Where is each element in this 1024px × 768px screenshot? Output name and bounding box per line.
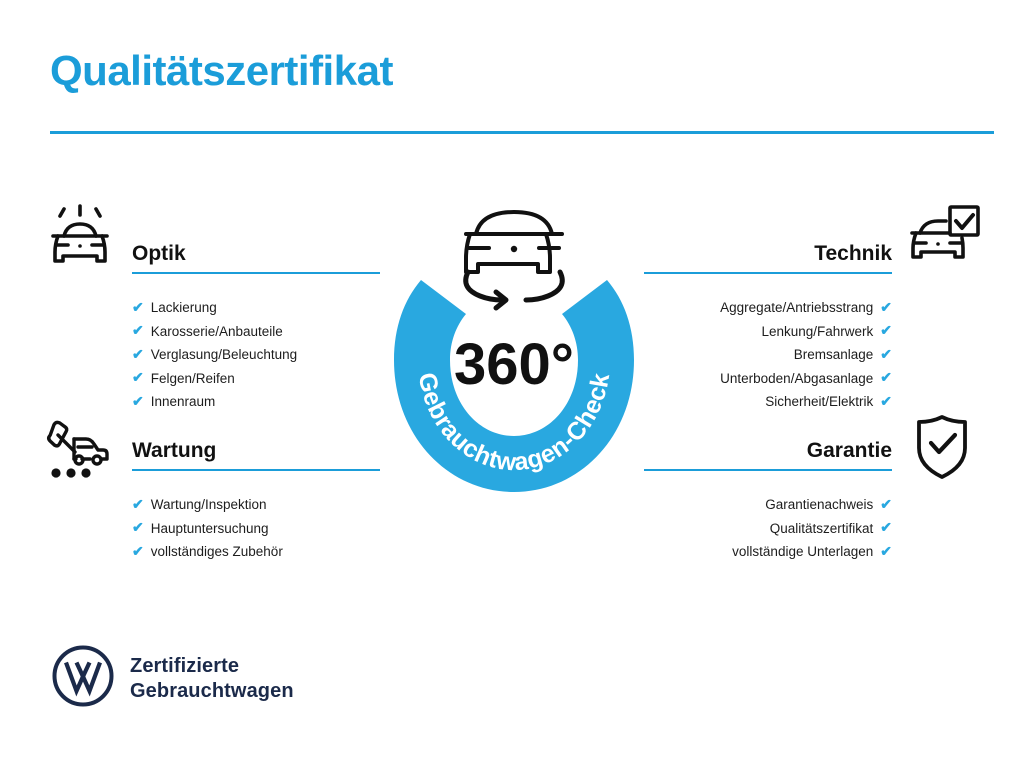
- check-icon: ✔: [880, 520, 892, 534]
- check-icon: ✔: [880, 394, 892, 408]
- wrench-car-icon: [44, 413, 116, 484]
- list-item: Aggregate/Antriebsstrang ✔: [644, 296, 892, 320]
- section-header: Garantie: [644, 437, 892, 479]
- list-item: Qualitätszertifikat ✔: [644, 517, 892, 541]
- check-icon: ✔: [880, 497, 892, 511]
- section-optik: Optik ✔ Lackierung ✔ Karosserie/Anbautei…: [132, 240, 380, 414]
- list-item: ✔ Verglasung/Beleuchtung: [132, 343, 380, 367]
- section-divider: [644, 272, 892, 274]
- list-item-label: Qualitätszertifikat: [770, 517, 874, 541]
- car-checkbox-icon: [906, 203, 982, 280]
- checklist: ✔ Lackierung ✔ Karosserie/Anbauteile ✔ V…: [132, 296, 380, 414]
- footer-line-1: Zertifizierte: [130, 654, 294, 679]
- list-item: Lenkung/Fahrwerk ✔: [644, 320, 892, 344]
- section-title: Garantie: [644, 437, 892, 465]
- check-icon: ✔: [132, 394, 144, 408]
- check-icon: ✔: [880, 300, 892, 314]
- section-header: Technik: [644, 240, 892, 282]
- checklist: ✔ Wartung/Inspektion ✔ Hauptuntersuchung…: [132, 493, 380, 564]
- section-divider: [644, 469, 892, 471]
- list-item-label: Hauptuntersuchung: [151, 517, 269, 541]
- list-item: ✔ Innenraum: [132, 390, 380, 414]
- footer-brand: Zertifizierte Gebrauchtwagen: [52, 645, 294, 712]
- check-icon: ✔: [132, 370, 144, 384]
- list-item-label: Garantienachweis: [765, 493, 873, 517]
- list-item-label: Lenkung/Fahrwerk: [761, 320, 873, 344]
- check-icon: ✔: [132, 323, 144, 337]
- footer-text: Zertifizierte Gebrauchtwagen: [130, 654, 294, 704]
- list-item-label: Lackierung: [151, 296, 217, 320]
- checklist: Garantienachweis ✔ Qualitätszertifikat ✔…: [644, 493, 892, 564]
- list-item-label: Wartung/Inspektion: [151, 493, 267, 517]
- list-item: Sicherheit/Elektrik ✔: [644, 390, 892, 414]
- check-icon: ✔: [880, 347, 892, 361]
- check-icon: ✔: [880, 370, 892, 384]
- list-item: Unterboden/Abgasanlage ✔: [644, 367, 892, 391]
- section-header: Optik: [132, 240, 380, 282]
- section-header: Wartung: [132, 437, 380, 479]
- list-item: ✔ Wartung/Inspektion: [132, 493, 380, 517]
- list-item-label: vollständige Unterlagen: [732, 540, 873, 564]
- car-shine-icon: [44, 203, 116, 280]
- check-icon: ✔: [132, 544, 144, 558]
- vw-logo: [52, 645, 114, 712]
- check-icon: ✔: [132, 520, 144, 534]
- section-title: Wartung: [132, 437, 380, 465]
- checklist: Aggregate/Antriebsstrang ✔ Lenkung/Fahrw…: [644, 296, 892, 414]
- section-garantie: Garantie Garantienachweis ✔ Qualitätszer…: [644, 437, 892, 564]
- title-divider: [50, 131, 994, 134]
- badge-center-text: 360°: [454, 332, 574, 397]
- list-item-label: Karosserie/Anbauteile: [151, 320, 283, 344]
- list-item: Bremsanlage ✔: [644, 343, 892, 367]
- list-item: ✔ Lackierung: [132, 296, 380, 320]
- list-item-label: Bremsanlage: [794, 343, 874, 367]
- section-divider: [132, 469, 380, 471]
- shield-check-icon: [910, 412, 974, 487]
- check-icon: ✔: [132, 347, 144, 361]
- check-icon: ✔: [132, 300, 144, 314]
- gebrauchtwagen-check-badge: Gebrauchtwagen-Check 360°: [374, 192, 654, 492]
- list-item-label: Innenraum: [151, 390, 216, 414]
- list-item: ✔ Felgen/Reifen: [132, 367, 380, 391]
- list-item: ✔ Hauptuntersuchung: [132, 517, 380, 541]
- check-icon: ✔: [132, 497, 144, 511]
- section-title: Optik: [132, 240, 380, 268]
- list-item: vollständige Unterlagen ✔: [644, 540, 892, 564]
- list-item-label: Sicherheit/Elektrik: [765, 390, 873, 414]
- list-item-label: Aggregate/Antriebsstrang: [720, 296, 873, 320]
- check-icon: ✔: [880, 544, 892, 558]
- list-item: Garantienachweis ✔: [644, 493, 892, 517]
- list-item-label: Felgen/Reifen: [151, 367, 235, 391]
- list-item-label: vollständiges Zubehör: [151, 540, 283, 564]
- list-item: ✔ vollständiges Zubehör: [132, 540, 380, 564]
- check-icon: ✔: [880, 323, 892, 337]
- page-title: Qualitätszertifikat: [50, 48, 393, 94]
- car-rotation-icon: [466, 212, 563, 308]
- section-divider: [132, 272, 380, 274]
- footer-line-2: Gebrauchtwagen: [130, 679, 294, 704]
- list-item-label: Verglasung/Beleuchtung: [151, 343, 297, 367]
- section-wartung: Wartung ✔ Wartung/Inspektion ✔ Hauptunte…: [132, 437, 380, 564]
- list-item: ✔ Karosserie/Anbauteile: [132, 320, 380, 344]
- section-title: Technik: [644, 240, 892, 268]
- section-technik: Technik Aggregate/Antriebsstrang ✔ Lenku…: [644, 240, 892, 414]
- list-item-label: Unterboden/Abgasanlage: [720, 367, 873, 391]
